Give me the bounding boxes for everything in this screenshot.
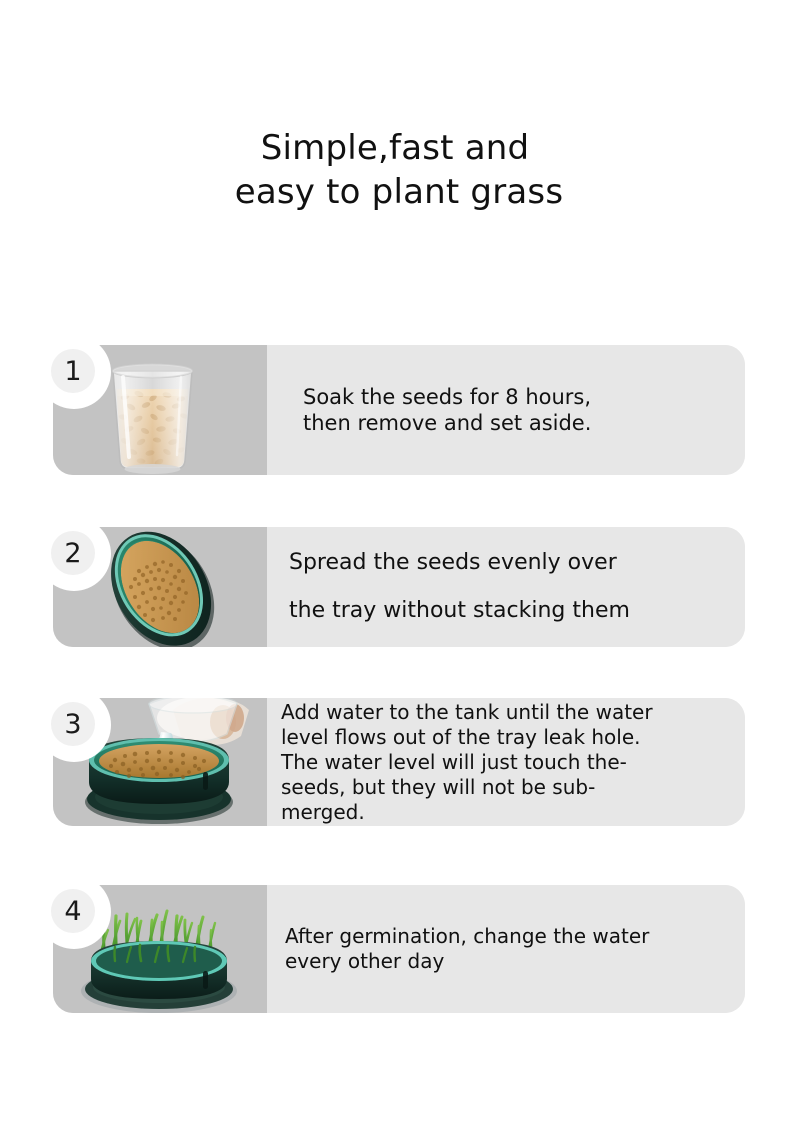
step-text-panel: Add water to the tank until the water le… bbox=[267, 698, 745, 826]
step-text-line: every other day bbox=[267, 949, 745, 974]
step-card: Soak the seeds for 8 hours, then remove … bbox=[53, 345, 745, 475]
step-text-line: After germination, change the water bbox=[267, 924, 745, 949]
step-number-badge: 4 bbox=[51, 889, 95, 933]
steps-list: Soak the seeds for 8 hours, then remove … bbox=[0, 0, 790, 1137]
step-text-line: then remove and set aside. bbox=[267, 410, 745, 436]
step-text-panel: After germination, change the water ever… bbox=[267, 885, 745, 1013]
step-number-badge: 2 bbox=[51, 531, 95, 575]
step-text-line: merged. bbox=[267, 800, 745, 825]
step-text-line: the tray without stacking them bbox=[267, 587, 745, 635]
step-number-badge: 3 bbox=[51, 702, 95, 746]
step-text-line: Soak the seeds for 8 hours, bbox=[267, 384, 745, 410]
step-text-line: Spread the seeds evenly over bbox=[267, 539, 745, 587]
step-text-line: level flows out of the tray leak hole. bbox=[267, 725, 745, 750]
step-number-label: 2 bbox=[64, 540, 81, 567]
step-number-label: 3 bbox=[64, 711, 81, 738]
step-number-label: 4 bbox=[64, 898, 81, 925]
step-card: Add water to the tank until the water le… bbox=[53, 698, 745, 826]
step-text-line: The water level will just touch the- bbox=[267, 750, 745, 775]
step-row: Add water to the tank until the water le… bbox=[53, 698, 745, 826]
step-text-panel: Soak the seeds for 8 hours, then remove … bbox=[267, 345, 745, 475]
step-text-panel: Spread the seeds evenly over the tray wi… bbox=[267, 527, 745, 647]
step-card: After germination, change the water ever… bbox=[53, 885, 745, 1013]
step-text-line: seeds, but they will not be sub- bbox=[267, 775, 745, 800]
step-row: Soak the seeds for 8 hours, then remove … bbox=[53, 345, 745, 475]
step-text-line: Add water to the tank until the water bbox=[267, 700, 745, 725]
step-row: Spread the seeds evenly over the tray wi… bbox=[53, 527, 745, 647]
step-number-badge: 1 bbox=[51, 349, 95, 393]
step-card: Spread the seeds evenly over the tray wi… bbox=[53, 527, 745, 647]
step-row: After germination, change the water ever… bbox=[53, 885, 745, 1013]
step-number-label: 1 bbox=[64, 358, 81, 385]
